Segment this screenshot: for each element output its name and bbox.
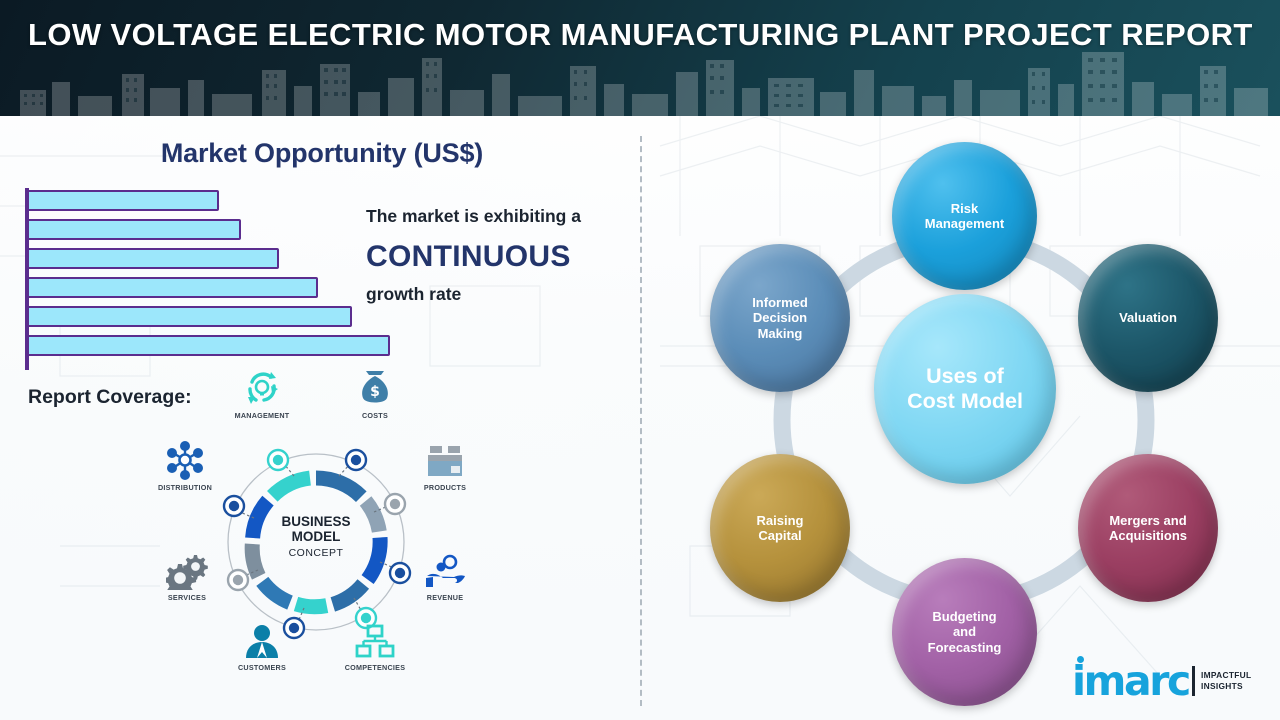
- coverage-label: COSTS: [334, 411, 416, 420]
- bubble-mergers-acquisitions: Mergers andAcquisitions: [1078, 454, 1218, 602]
- coverage-item-services: SERVICES: [146, 550, 228, 602]
- bar-4: [27, 277, 318, 298]
- org-chart-icon: [334, 620, 416, 660]
- recycle-bulb-icon: [221, 368, 303, 408]
- imarc-logo-separator: [1192, 666, 1195, 696]
- market-message-line1: The market is exhibiting a: [366, 206, 636, 227]
- business-model-diagram: BUSINESS MODEL CONCEPT MANAGEMENT: [126, 440, 506, 715]
- coverage-item-competencies: COMPETENCIES: [334, 620, 416, 672]
- bubble-center-uses-of-cost-model: Uses ofCost Model: [874, 294, 1056, 484]
- bar-1: [27, 190, 219, 211]
- page-title: Low Voltage Electric Motor Manufacturing…: [28, 16, 1258, 55]
- coverage-label: SERVICES: [146, 593, 228, 602]
- imarc-tagline: IMPACTFUL INSIGHTS: [1201, 670, 1251, 692]
- market-message-emphasis: CONTINUOUS: [366, 240, 666, 274]
- bubble-label: RaisingCapital: [757, 513, 804, 544]
- coverage-label: DISTRIBUTION: [144, 483, 226, 492]
- coverage-label: COMPETENCIES: [334, 663, 416, 672]
- box-icon: [404, 440, 486, 480]
- panel-divider: [640, 136, 642, 706]
- bubble-label: RiskManagement: [925, 201, 1004, 232]
- gears-icon: [146, 550, 228, 590]
- bubble-informed-decision-making: InformedDecisionMaking: [710, 244, 850, 392]
- report-coverage-title: Report Coverage:: [28, 386, 192, 409]
- market-message-line2: growth rate: [366, 284, 636, 305]
- bubble-label: Valuation: [1119, 310, 1177, 325]
- slide-root: Low Voltage Electric Motor Manufacturing…: [0, 0, 1280, 720]
- city-skyline-graphic: [0, 44, 1280, 116]
- money-bag-icon: $: [334, 368, 416, 408]
- coverage-label: PRODUCTS: [404, 483, 486, 492]
- bubble-label: Mergers andAcquisitions: [1109, 513, 1187, 544]
- coverage-item-distribution: DISTRIBUTION: [144, 440, 226, 492]
- bubble-label: Uses ofCost Model: [907, 364, 1023, 415]
- bubble-raising-capital: RaisingCapital: [710, 454, 850, 602]
- coverage-item-management: MANAGEMENT: [221, 368, 303, 420]
- bar-2: [27, 219, 241, 240]
- slide-header: Low Voltage Electric Motor Manufacturing…: [0, 0, 1280, 116]
- bar-6: [27, 335, 390, 356]
- coverage-label: CUSTOMERS: [221, 663, 303, 672]
- coverage-item-customers: CUSTOMERS: [221, 620, 303, 672]
- uses-of-cost-model-diagram: RiskManagement Valuation Mergers andAcqu…: [650, 124, 1280, 720]
- bubble-valuation: Valuation: [1078, 244, 1218, 392]
- market-opportunity-bar-chart: [22, 188, 402, 370]
- business-model-center-label: BUSINESS MODEL CONCEPT: [246, 515, 386, 559]
- bubble-risk-management: RiskManagement: [892, 142, 1037, 290]
- bubble-label: InformedDecisionMaking: [752, 295, 808, 341]
- user-icon: [221, 620, 303, 660]
- imarc-logo: imarc IMPACTFUL INSIGHTS: [1072, 658, 1272, 704]
- imarc-wordmark: imarc: [1072, 661, 1189, 702]
- hand-coin-icon: [404, 550, 486, 590]
- coverage-item-products: PRODUCTS: [404, 440, 486, 492]
- bar-5: [27, 306, 352, 327]
- network-nodes-icon: [144, 440, 226, 480]
- market-opportunity-title: Market Opportunity (US$): [22, 138, 622, 169]
- bar-3: [27, 248, 279, 269]
- bubble-label: BudgetingandForecasting: [928, 609, 1002, 655]
- coverage-item-revenue: REVENUE: [404, 550, 486, 602]
- imarc-logo-dot: [1077, 656, 1084, 663]
- bubble-budgeting-forecasting: BudgetingandForecasting: [892, 558, 1037, 706]
- svg-text:$: $: [370, 384, 380, 400]
- coverage-label: MANAGEMENT: [221, 411, 303, 420]
- coverage-label: REVENUE: [404, 593, 486, 602]
- coverage-item-costs: $ COSTS: [334, 368, 416, 420]
